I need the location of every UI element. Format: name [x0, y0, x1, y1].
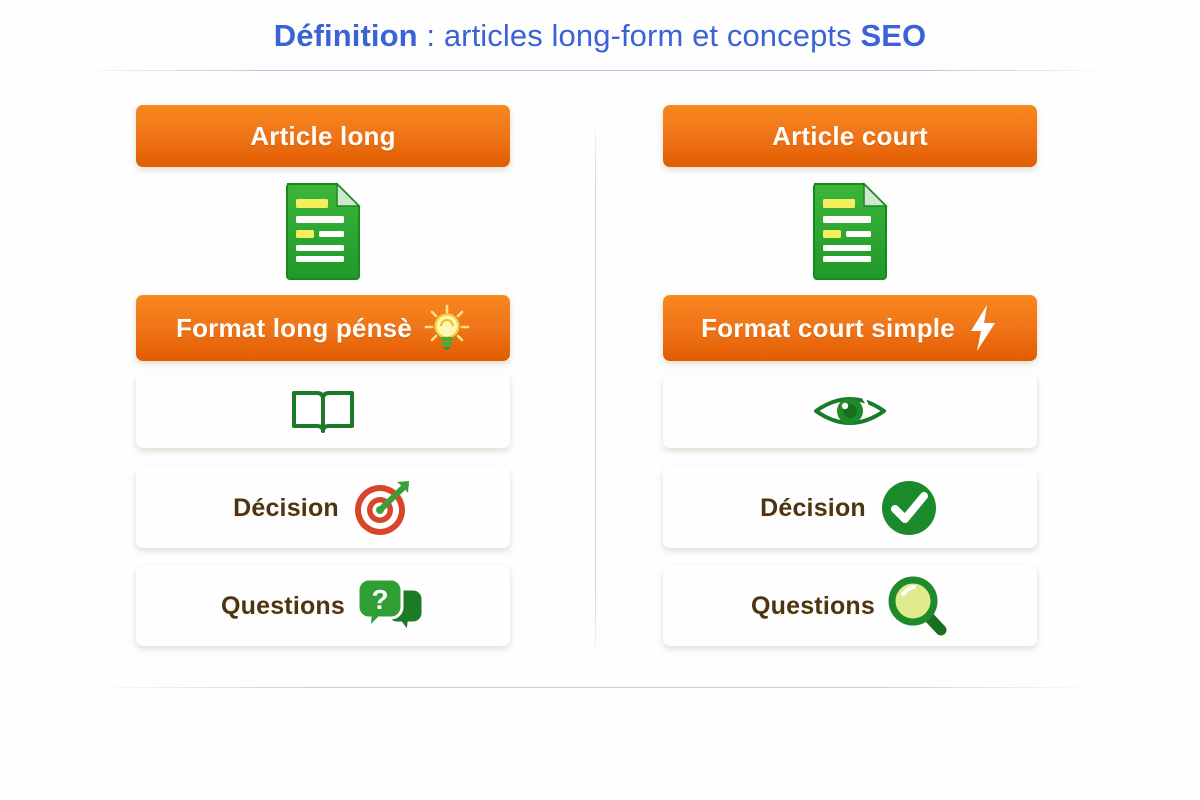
document-icon-holder-long — [136, 176, 510, 284]
row-decision-long-label: Décision — [233, 494, 339, 523]
row-decision-long[interactable]: Décision — [136, 468, 510, 548]
document-icon — [810, 180, 890, 280]
row-format-court-label: Format court simple — [701, 313, 955, 344]
eye-icon — [812, 388, 888, 434]
lightbulb-icon — [424, 304, 470, 352]
row-format-long[interactable]: Format long pénsè — [136, 295, 510, 361]
page-title-middle: : articles long-form et concepts — [418, 18, 861, 53]
row-visual-court[interactable] — [663, 374, 1037, 448]
document-icon-holder-court — [663, 176, 1037, 284]
row-format-long-label: Format long pénsè — [176, 313, 412, 344]
column-header-long-label: Article long — [250, 121, 395, 152]
page-title: Définition : articles long-form et conce… — [0, 18, 1200, 54]
svg-text:?: ? — [371, 584, 388, 615]
column-header-long[interactable]: Article long — [136, 105, 510, 167]
page-title-trail: SEO — [860, 18, 926, 53]
row-format-court[interactable]: Format court simple — [663, 295, 1037, 361]
row-decision-court[interactable]: Décision — [663, 468, 1037, 548]
magnifier-icon — [887, 575, 949, 637]
column-header-court-label: Article court — [772, 121, 928, 152]
row-questions-long-label: Questions — [221, 592, 345, 621]
target-dart-icon — [351, 477, 413, 539]
row-questions-court-label: Questions — [751, 592, 875, 621]
title-divider — [96, 70, 1094, 71]
row-visual-long[interactable] — [136, 374, 510, 448]
page-title-lead: Définition — [274, 18, 418, 53]
lightning-bolt-icon — [967, 303, 999, 353]
document-icon — [283, 180, 363, 280]
check-circle-icon — [878, 477, 940, 539]
row-decision-court-label: Décision — [760, 494, 866, 523]
column-header-court[interactable]: Article court — [663, 105, 1037, 167]
open-book-icon — [290, 385, 356, 437]
row-questions-long[interactable]: Questions ? — [136, 566, 510, 646]
page-title-text: Définition : articles long-form et conce… — [274, 18, 926, 53]
slide-root: Définition : articles long-form et conce… — [0, 0, 1200, 800]
speech-bubbles-question-icon: ? — [357, 575, 425, 637]
bottom-divider — [110, 687, 1080, 688]
row-questions-court[interactable]: Questions — [663, 566, 1037, 646]
column-divider — [595, 128, 596, 650]
